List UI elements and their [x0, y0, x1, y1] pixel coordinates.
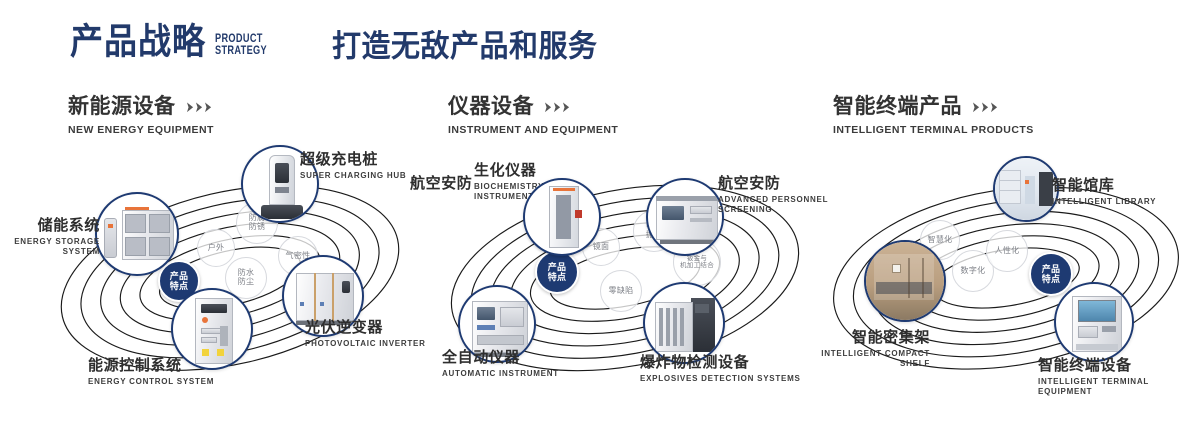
product-circle-compact-shelf[interactable] — [864, 240, 946, 322]
product-label-automatic-instrument: 全自动仪器 AUTOMATIC INSTRUMENT — [442, 350, 559, 379]
cluster-new-energy-equipment: 产品 特点 户外 防腐 防锈 防水 防尘 气密性 — [40, 160, 420, 390]
feature-bubble: 零缺陷 — [600, 270, 642, 312]
chevron-right-icon: ➤➤➤ — [543, 100, 569, 114]
product-label-energy-control: 能源控制系统 ENERGY CONTROL SYSTEM — [88, 358, 214, 387]
control-cabinet-icon — [173, 290, 251, 368]
section-title-en: NEW ENERGY EQUIPMENT — [68, 124, 214, 136]
section-title-cn: 新能源设备 — [68, 96, 176, 117]
core-feature-bubble: 产品 特点 — [535, 250, 579, 294]
feature-bubble: 户外 — [197, 229, 235, 267]
section-heading-instrument: 仪器设备 ➤➤➤ INSTRUMENT AND EQUIPMENT — [448, 96, 618, 136]
page-slogan: 打造无敌产品和服务 — [332, 32, 598, 63]
product-circle-energy-storage[interactable] — [95, 192, 179, 276]
page-title: 产品战略 PRODUCT STRATEGY — [70, 26, 305, 59]
security-gate-icon — [525, 180, 599, 254]
section-heading-intelligent-terminal: 智能终端产品 ➤➤➤ INTELLIGENT TERMINAL PRODUCTS — [833, 96, 1034, 136]
product-circle-intelligent-library[interactable] — [993, 156, 1059, 222]
product-circle-explosives-detection[interactable] — [643, 282, 725, 364]
section-heading-new-energy: 新能源设备 ➤➤➤ NEW ENERGY EQUIPMENT — [68, 96, 214, 136]
page-title-cn: 产品战略 — [70, 23, 206, 59]
library-interior-icon — [995, 158, 1057, 220]
product-label-explosives-detection: 爆炸物检测设备 EXPLOSIVES DETECTION SYSTEMS — [640, 355, 801, 384]
product-label-aviation-security-left: 航空安防 — [410, 176, 472, 193]
chevron-right-icon: ➤➤➤ — [971, 100, 997, 114]
chevron-right-icon: ➤➤➤ — [185, 100, 211, 114]
product-label-charging-hub: 超级充电桩 SUPER CHARGING HUB — [300, 152, 406, 181]
section-title-en: INSTRUMENT AND EQUIPMENT — [448, 124, 618, 136]
product-circle-personnel-screening[interactable] — [646, 178, 724, 256]
product-label-pv-inverter: 光伏逆变器 PHOTOVOLTAIC INVERTER — [305, 320, 426, 349]
page-title-en: PRODUCT STRATEGY — [215, 34, 287, 57]
section-title-cn: 仪器设备 — [448, 96, 534, 117]
product-circle-terminal-equipment[interactable] — [1054, 282, 1134, 362]
page-title-en-line2: STRATEGY — [215, 46, 287, 58]
page-title-en-line1: PRODUCT — [215, 34, 287, 46]
product-label-terminal-equipment: 智能终端设备 INTELLIGENT TERMINAL EQUIPMENT — [1038, 358, 1200, 397]
energy-storage-cabinet-icon — [97, 194, 177, 274]
section-title-en: INTELLIGENT TERMINAL PRODUCTS — [833, 124, 1034, 136]
self-service-kiosk-icon — [1056, 284, 1132, 360]
feature-bubble: 人性化 — [986, 230, 1028, 272]
product-label-intelligent-library: 智能馆库 INTELLIGENT LIBRARY — [1052, 178, 1156, 207]
explosives-detector-icon — [645, 284, 723, 362]
product-circle-aviation-security-gate[interactable] — [523, 178, 601, 256]
product-strategy-infographic: 产品战略 PRODUCT STRATEGY 打造无敌产品和服务 新能源设备 ➤➤… — [0, 0, 1200, 422]
product-label-compact-shelf: 智能密集架 INTELLIGENT COMPACTSHELF — [790, 330, 930, 369]
section-title-cn: 智能终端产品 — [833, 96, 962, 117]
screening-machine-icon — [648, 180, 722, 254]
compact-shelf-icon — [866, 242, 944, 320]
product-label-energy-storage: 储能系统 ENERGY STORAGESYSTEM — [0, 218, 100, 257]
